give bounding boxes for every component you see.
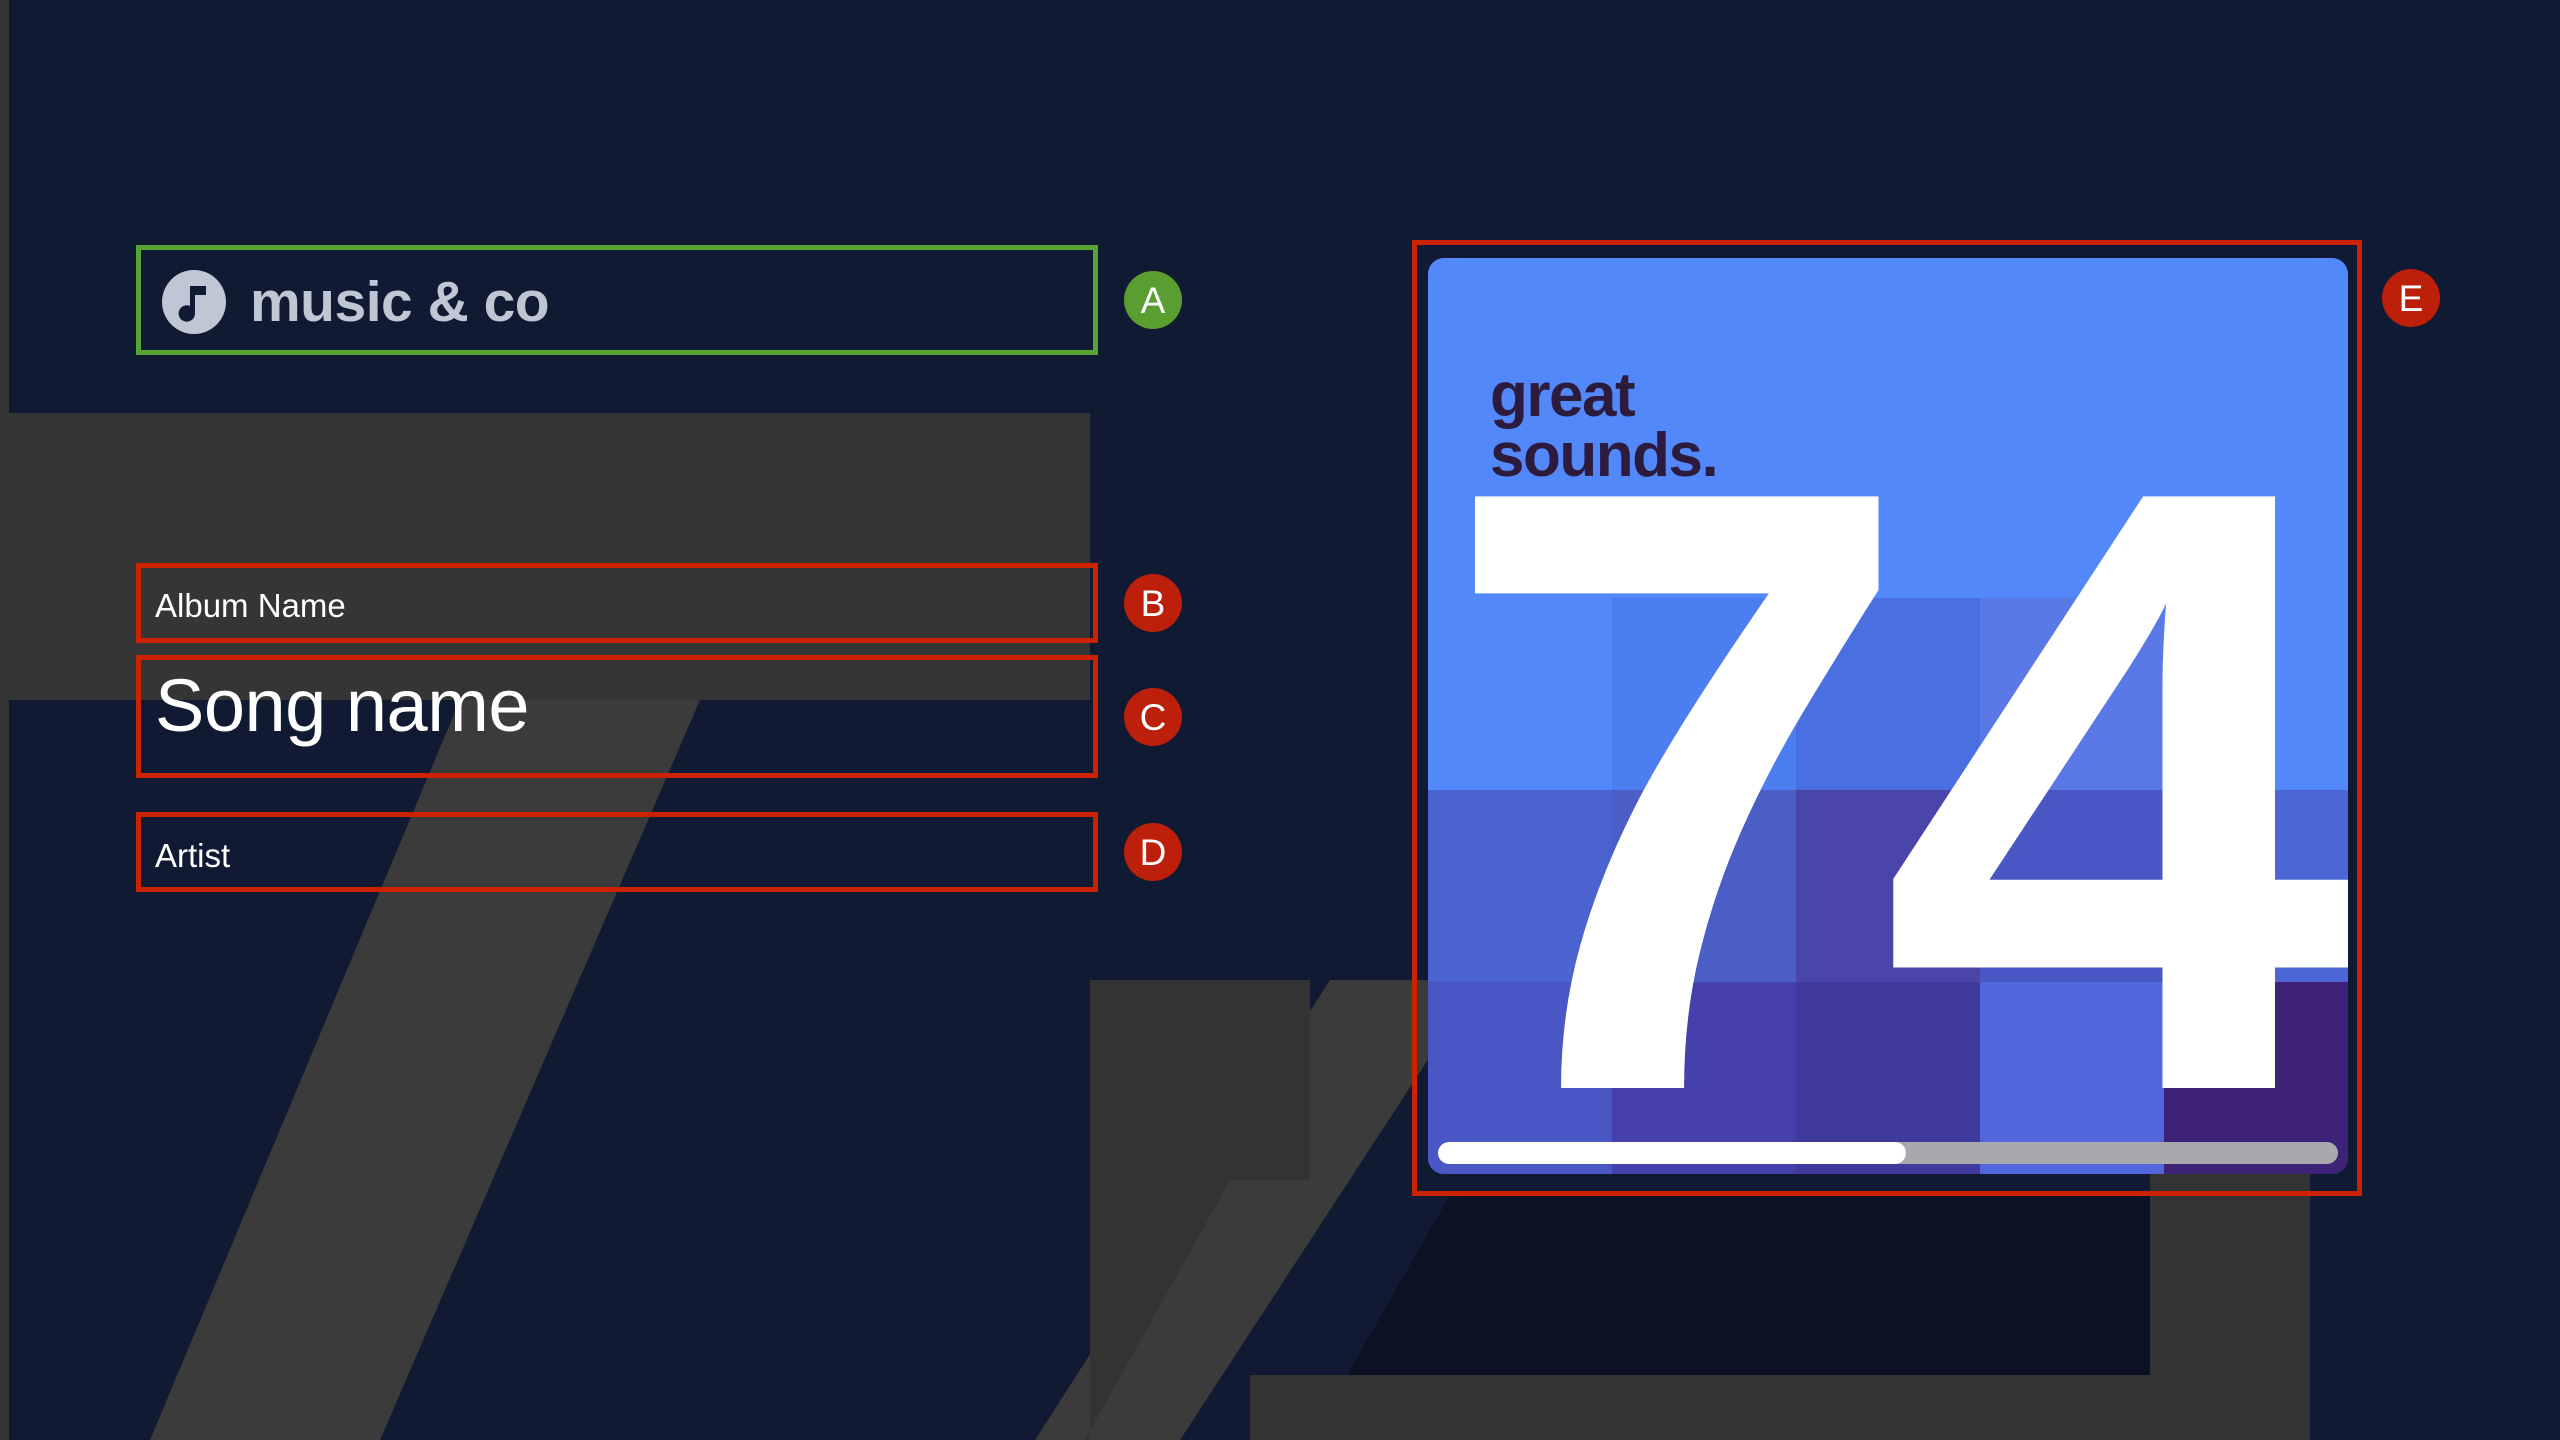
album-art-tile xyxy=(1612,598,1796,790)
album-art-tile xyxy=(2164,790,2348,982)
album-name-field[interactable]: Album Name xyxy=(155,578,1075,634)
album-art-tagline: great sounds. xyxy=(1490,366,1717,485)
album-art-tile-grid xyxy=(1428,598,2348,1174)
album-art-tile xyxy=(1796,790,1980,982)
brand-logo-row[interactable]: music & co xyxy=(136,262,1098,342)
annotation-badge-c: C xyxy=(1124,688,1182,746)
artist-name-field[interactable]: Artist xyxy=(155,828,1075,884)
album-art-card[interactable]: 74 great sounds. xyxy=(1428,258,2348,1174)
album-art-tile xyxy=(1980,790,2164,982)
song-name-field[interactable]: Song name xyxy=(155,660,1075,750)
album-art-tile xyxy=(2164,598,2348,790)
annotation-badge-e: E xyxy=(2382,269,2440,327)
annotation-badge-b: B xyxy=(1124,574,1182,632)
album-art-tile xyxy=(1428,598,1612,790)
music-note-circle-icon xyxy=(160,268,228,336)
annotation-badge-a: A xyxy=(1124,271,1182,329)
background-navy-overlay xyxy=(9,700,1090,1440)
annotation-badge-d: D xyxy=(1124,823,1182,881)
album-art-tile xyxy=(1428,790,1612,982)
playback-progress-track[interactable] xyxy=(1438,1142,2338,1164)
album-art-tile xyxy=(1612,790,1796,982)
album-art-tile xyxy=(1980,598,2164,790)
album-art-tile xyxy=(1796,598,1980,790)
app-screen: music & co Album Name Song name Artist 7… xyxy=(0,0,2560,1440)
playback-progress-fill xyxy=(1438,1142,1906,1164)
brand-name-label: music & co xyxy=(250,269,549,335)
